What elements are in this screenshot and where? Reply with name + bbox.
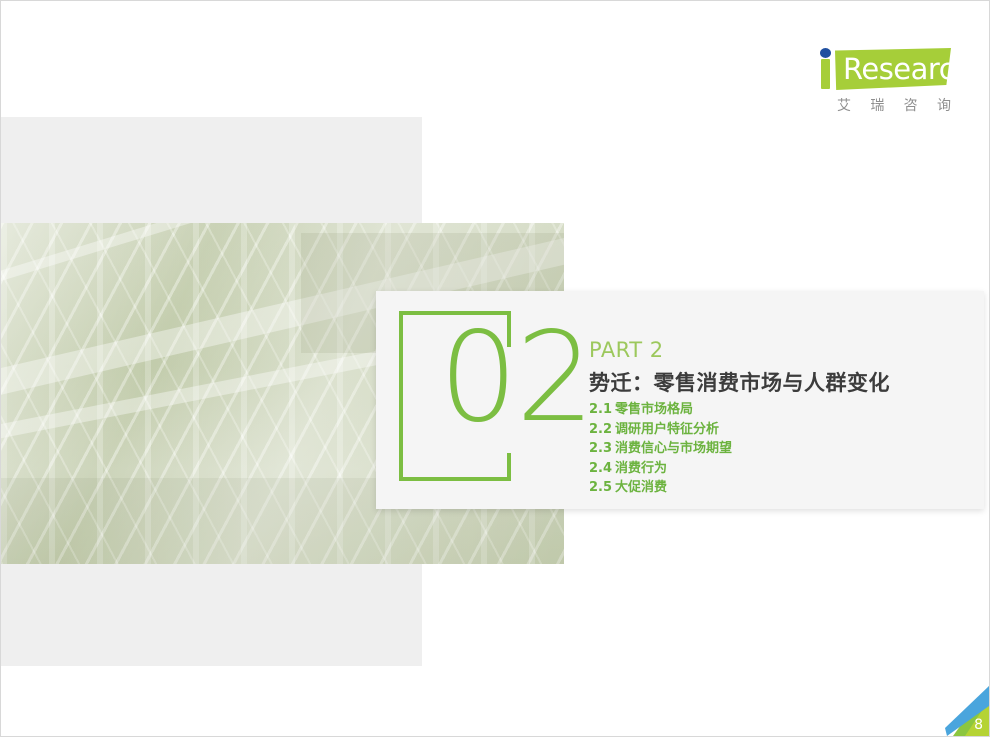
logo-chinese-name: 艾 瑞 咨 询 [837, 95, 951, 115]
subitem-label: 消费信心与市场期望 [615, 441, 732, 456]
part-label: PART 2 [589, 337, 979, 363]
iresearch-logo: Research 艾 瑞 咨 询 [819, 47, 951, 119]
list-item[interactable]: 2.3消费信心与市场期望 [589, 439, 979, 459]
logo-cn-char-4: 询 [937, 95, 951, 115]
subitem-number: 2.4 [589, 461, 612, 476]
subitem-label: 大促消费 [615, 480, 667, 495]
subitem-number: 2.1 [589, 402, 612, 417]
page-number: 8 [974, 718, 983, 732]
subitem-number: 2.5 [589, 480, 612, 495]
section-title: 势迁：零售消费市场与人群变化 [589, 369, 979, 397]
logo-cn-char-3: 咨 [904, 95, 918, 115]
subitem-label: 调研用户特征分析 [615, 422, 719, 437]
list-item[interactable]: 2.4消费行为 [589, 459, 979, 479]
section-text-block: PART 2 势迁：零售消费市场与人群变化 2.1零售市场格局 2.2调研用户特… [589, 337, 979, 498]
logo-mark: Research [819, 47, 951, 93]
logo-i-dot-icon [820, 48, 831, 58]
list-item[interactable]: 2.5大促消费 [589, 478, 979, 498]
logo-wordmark: Research [843, 54, 972, 85]
subitem-number: 2.2 [589, 422, 612, 437]
list-item[interactable]: 2.2调研用户特征分析 [589, 420, 979, 440]
logo-i-stem-icon [821, 59, 830, 89]
list-item[interactable]: 2.1零售市场格局 [589, 400, 979, 420]
section-number: 02 [439, 316, 593, 440]
subitem-label: 零售市场格局 [615, 402, 693, 417]
section-subitem-list: 2.1零售市场格局 2.2调研用户特征分析 2.3消费信心与市场期望 2.4消费… [589, 400, 979, 498]
logo-cn-char-2: 瑞 [870, 95, 884, 115]
subitem-label: 消费行为 [615, 461, 667, 476]
subitem-number: 2.3 [589, 441, 612, 456]
slide-canvas: Research 艾 瑞 咨 询 02 PART 2 势迁：零售消费市场与人群变… [0, 0, 990, 737]
logo-cn-char-1: 艾 [837, 95, 851, 115]
corner-decoration: 8 [945, 686, 989, 736]
